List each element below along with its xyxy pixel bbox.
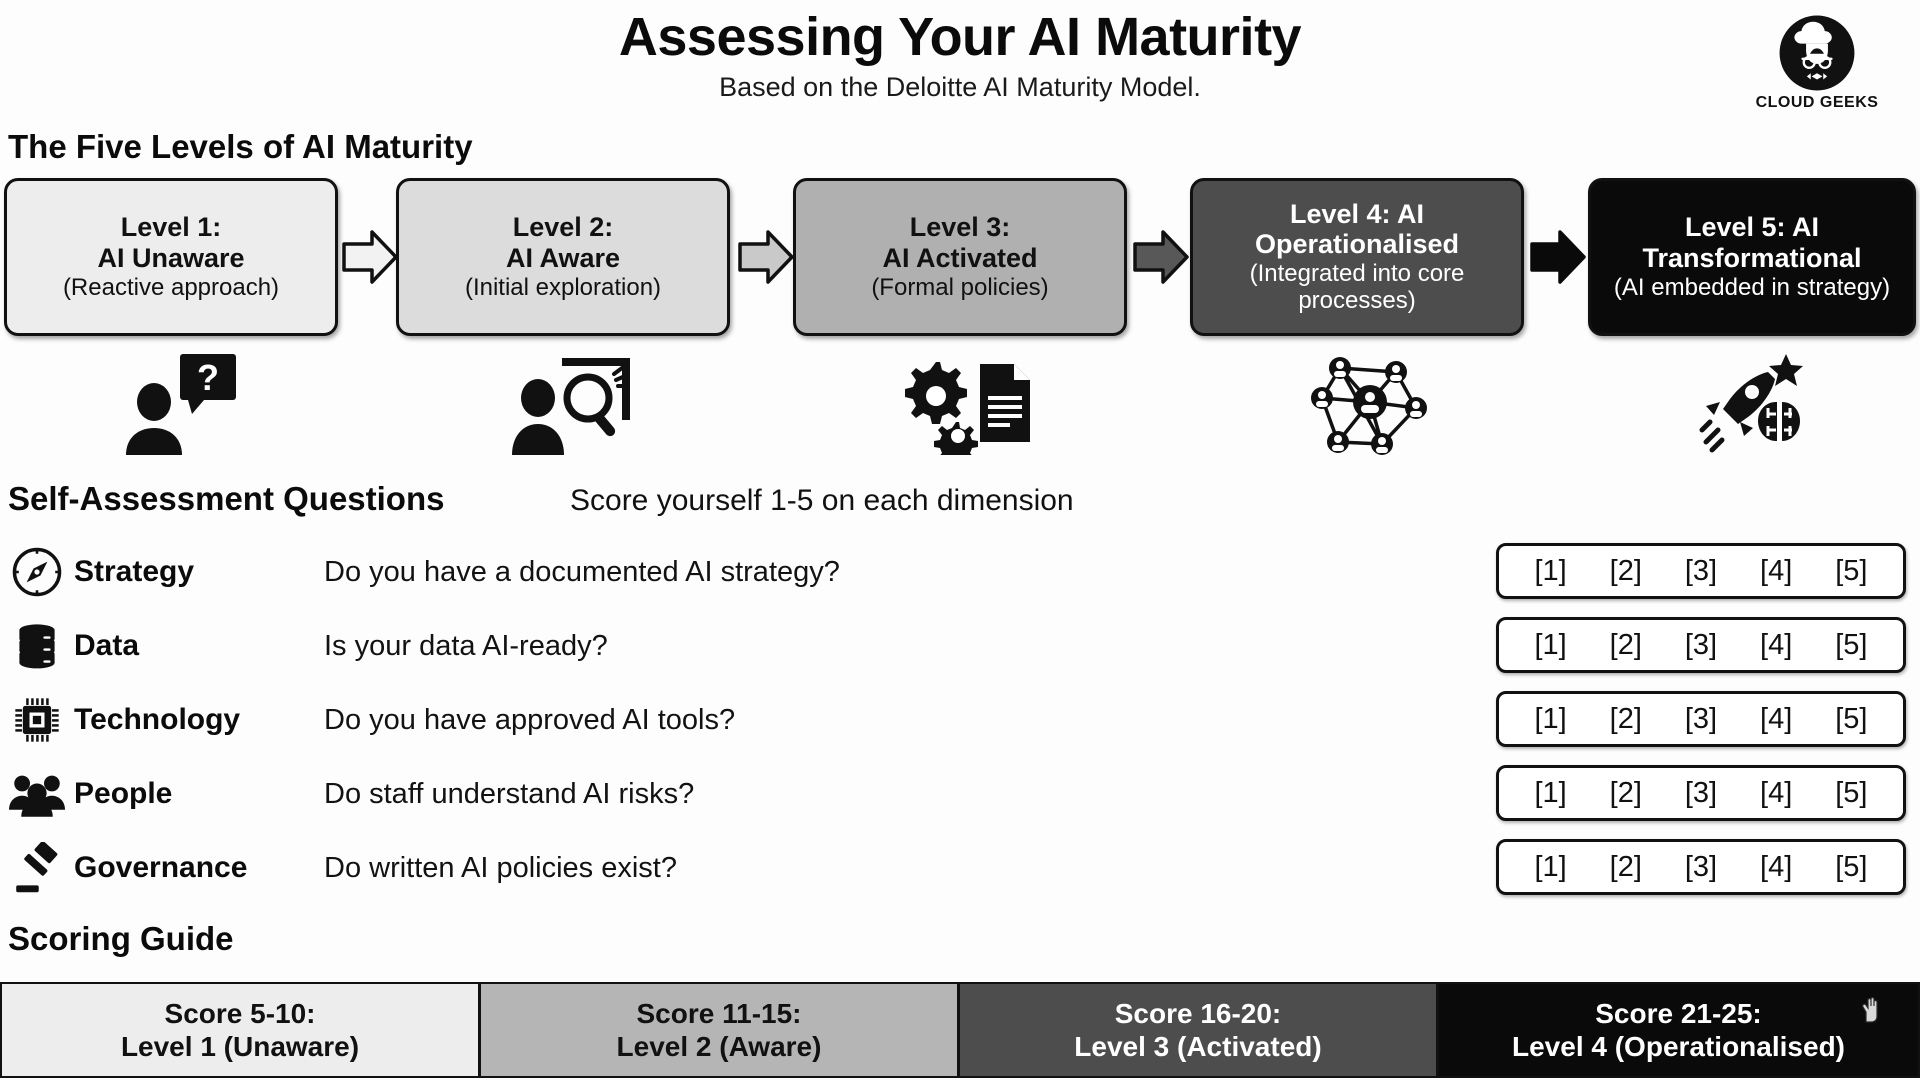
assessment-row-technology: Technology Do you have approved AI tools… — [0, 683, 1920, 757]
people-group-icon — [0, 765, 74, 823]
dimension-label-strategy: Strategy — [74, 555, 324, 589]
person-magnifier-icon — [500, 350, 640, 455]
score-option-1[interactable]: [1] — [1534, 629, 1566, 662]
score-option-2[interactable]: [2] — [1610, 777, 1642, 810]
level-3-title-line2: AI Activated — [882, 243, 1037, 273]
levels-section-heading: The Five Levels of AI Maturity — [8, 128, 473, 166]
logo-label: CLOUD GEEKS — [1742, 94, 1892, 112]
database-icon — [0, 617, 74, 675]
brand-logo: CLOUD GEEKS — [1742, 14, 1892, 112]
level-4-subtitle: (Integrated into core processes) — [1203, 261, 1511, 315]
scoring-segment-4-range: Score 21-25: — [1595, 997, 1762, 1030]
score-option-1[interactable]: [1] — [1534, 851, 1566, 884]
level-3-subtitle: (Formal policies) — [871, 275, 1048, 302]
level-1-title-line2: AI Unaware — [97, 243, 244, 273]
score-option-4[interactable]: [4] — [1760, 555, 1792, 588]
scoring-segment-3-level: Level 3 (Activated) — [1074, 1030, 1321, 1063]
level-5-title-line2: Transformational — [1642, 243, 1861, 273]
score-selector-governance[interactable]: [1] [2] [3] [4] [5] — [1496, 839, 1906, 895]
network-nodes-icon — [1300, 350, 1440, 455]
score-option-2[interactable]: [2] — [1610, 851, 1642, 884]
cloud-geeks-avatar-icon — [1778, 14, 1856, 92]
assessment-row-data: Data Is your data AI-ready? [1] [2] [3] … — [0, 609, 1920, 683]
stage-icon-row: ? — [0, 350, 1920, 460]
assessment-row-governance: Governance Do written AI policies exist?… — [0, 831, 1920, 905]
dimension-label-data: Data — [74, 629, 324, 663]
score-option-2[interactable]: [2] — [1610, 629, 1642, 662]
score-option-3[interactable]: [3] — [1685, 703, 1717, 736]
score-option-3[interactable]: [3] — [1685, 777, 1717, 810]
score-option-4[interactable]: [4] — [1760, 851, 1792, 884]
dimension-label-technology: Technology — [74, 703, 324, 737]
score-option-2[interactable]: [2] — [1610, 703, 1642, 736]
arrow-level1-to-level2-icon — [340, 226, 400, 288]
scoring-segment-1-level: Level 1 (Unaware) — [121, 1030, 359, 1063]
self-assessment-heading: Self-Assessment Questions — [8, 480, 444, 518]
person-question-icon: ? — [118, 350, 258, 455]
maturity-level-pipeline: Level 1: AI Unaware (Reactive approach) … — [0, 178, 1920, 338]
level-box-5[interactable]: Level 5: AI Transformational (AI embedde… — [1588, 178, 1916, 336]
score-option-4[interactable]: [4] — [1760, 777, 1792, 810]
scoring-guide-bar: Score 5-10: Level 1 (Unaware) Score 11-1… — [0, 982, 1920, 1078]
score-option-5[interactable]: [5] — [1835, 851, 1867, 884]
infographic-page: Assessing Your AI Maturity Based on the … — [0, 0, 1920, 1080]
scoring-segment-2-level: Level 2 (Aware) — [617, 1030, 822, 1063]
self-assessment-instruction: Score yourself 1-5 on each dimension — [570, 484, 1074, 518]
score-selector-data[interactable]: [1] [2] [3] [4] [5] — [1496, 617, 1906, 673]
scoring-segment-1-range: Score 5-10: — [165, 997, 316, 1030]
score-option-5[interactable]: [5] — [1835, 555, 1867, 588]
scoring-segment-2-range: Score 11-15: — [637, 997, 802, 1030]
svg-text:?: ? — [197, 357, 219, 398]
arrow-level2-to-level3-icon — [736, 226, 796, 288]
level-box-3[interactable]: Level 3: AI Activated (Formal policies) — [793, 178, 1127, 336]
level-2-title-line2: AI Aware — [506, 243, 620, 273]
gears-document-icon — [900, 350, 1040, 455]
level-2-subtitle: (Initial exploration) — [465, 275, 661, 302]
level-box-2[interactable]: Level 2: AI Aware (Initial exploration) — [396, 178, 730, 336]
gavel-icon — [0, 839, 74, 897]
score-selector-strategy[interactable]: [1] [2] [3] [4] [5] — [1496, 543, 1906, 599]
scoring-segment-1[interactable]: Score 5-10: Level 1 (Unaware) — [2, 984, 481, 1076]
score-option-2[interactable]: [2] — [1610, 555, 1642, 588]
level-5-title-line1: Level 5: AI — [1685, 212, 1819, 242]
dimension-label-people: People — [74, 777, 324, 811]
level-1-subtitle: (Reactive approach) — [63, 275, 279, 302]
scoring-segment-3[interactable]: Score 16-20: Level 3 (Activated) — [960, 984, 1439, 1076]
scoring-guide-heading: Scoring Guide — [8, 920, 234, 958]
scoring-segment-2[interactable]: Score 11-15: Level 2 (Aware) — [481, 984, 960, 1076]
scoring-segment-4[interactable]: Score 21-25: Level 4 (Operationalised) — [1439, 984, 1918, 1076]
score-option-3[interactable]: [3] — [1685, 851, 1717, 884]
score-option-3[interactable]: [3] — [1685, 629, 1717, 662]
page-title: Assessing Your AI Maturity — [0, 6, 1920, 68]
level-4-title-line2: Operationalised — [1255, 229, 1459, 259]
assessment-row-people: People Do staff understand AI risks? [1]… — [0, 757, 1920, 831]
level-5-subtitle: (AI embedded in strategy) — [1614, 275, 1890, 302]
rocket-brain-star-icon — [1690, 350, 1830, 455]
assessment-row-strategy: Strategy Do you have a documented AI str… — [0, 535, 1920, 609]
level-3-title-line1: Level 3: — [910, 212, 1011, 242]
level-box-4[interactable]: Level 4: AI Operationalised (Integrated … — [1190, 178, 1524, 336]
score-option-4[interactable]: [4] — [1760, 703, 1792, 736]
score-option-1[interactable]: [1] — [1534, 703, 1566, 736]
arrow-level3-to-level4-icon — [1131, 226, 1191, 288]
self-assessment-rows: Strategy Do you have a documented AI str… — [0, 535, 1920, 905]
level-box-1[interactable]: Level 1: AI Unaware (Reactive approach) — [4, 178, 338, 336]
microchip-icon — [0, 691, 74, 749]
score-option-3[interactable]: [3] — [1685, 555, 1717, 588]
hand-cursor-icon — [1858, 994, 1880, 1024]
dimension-label-governance: Governance — [74, 851, 324, 885]
compass-icon — [0, 543, 74, 601]
level-1-title-line1: Level 1: — [121, 212, 222, 242]
score-option-4[interactable]: [4] — [1760, 629, 1792, 662]
scoring-segment-3-range: Score 16-20: — [1115, 997, 1282, 1030]
score-option-5[interactable]: [5] — [1835, 703, 1867, 736]
score-option-1[interactable]: [1] — [1534, 777, 1566, 810]
level-2-title-line1: Level 2: — [513, 212, 614, 242]
score-selector-technology[interactable]: [1] [2] [3] [4] [5] — [1496, 691, 1906, 747]
score-option-5[interactable]: [5] — [1835, 629, 1867, 662]
level-4-title-line1: Level 4: AI — [1290, 199, 1424, 229]
score-selector-people[interactable]: [1] [2] [3] [4] [5] — [1496, 765, 1906, 821]
page-subtitle: Based on the Deloitte AI Maturity Model. — [0, 72, 1920, 103]
scoring-segment-4-level: Level 4 (Operationalised) — [1512, 1030, 1845, 1063]
score-option-5[interactable]: [5] — [1835, 777, 1867, 810]
arrow-level4-to-level5-icon — [1528, 226, 1588, 288]
score-option-1[interactable]: [1] — [1534, 555, 1566, 588]
